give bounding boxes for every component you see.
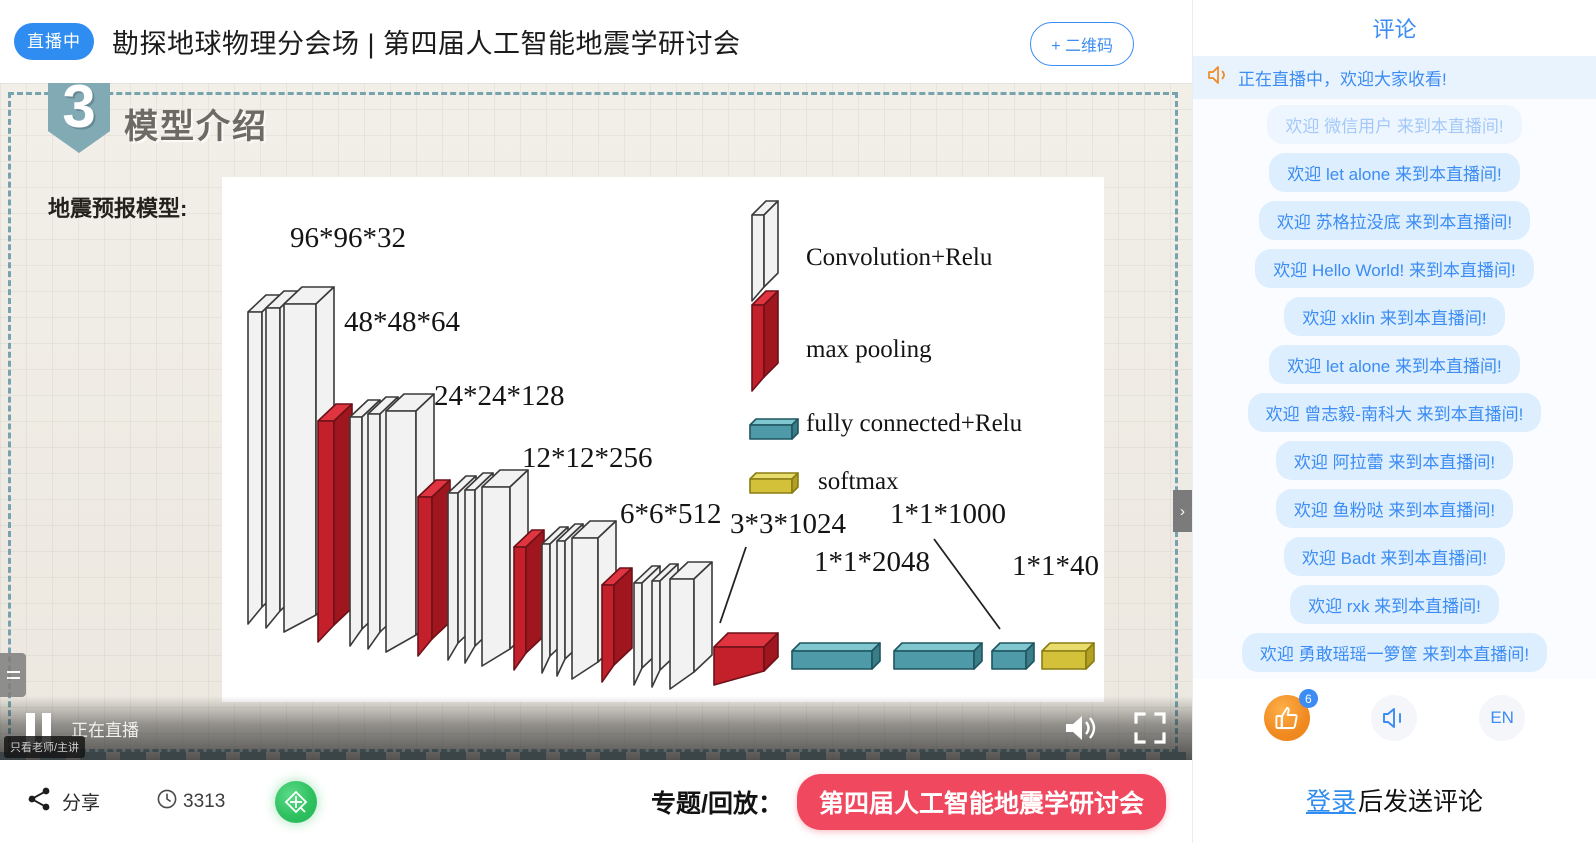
login-suffix: 后发送评论 xyxy=(1358,782,1483,818)
list-item: 欢迎 Badt 来到本直播间! xyxy=(1284,537,1505,576)
live-stream-page: 直播中 勘探地球物理分会场 | 第四届人工智能地震学研讨会 + 二维码 3 模型… xyxy=(0,0,1596,843)
comment-actions-bar: 6 EN xyxy=(1193,679,1596,757)
qrcode-button-label: + 二维码 xyxy=(1051,32,1113,56)
cnn-architecture-figure: 96*96*32 xyxy=(222,177,1104,702)
page-header: 直播中 勘探地球物理分会场 | 第四届人工智能地震学研讨会 + 二维码 xyxy=(0,0,1192,83)
video-column: 直播中 勘探地球物理分会场 | 第四届人工智能地震学研讨会 + 二维码 3 模型… xyxy=(0,0,1192,843)
slide-title: 模型介绍 xyxy=(124,99,268,148)
list-item: 欢迎 曾志毅-南科大 来到本直播间! xyxy=(1248,393,1542,432)
language-button[interactable]: EN xyxy=(1479,695,1525,741)
live-status-badge: 直播中 xyxy=(14,23,94,60)
list-item: 欢迎 xklin 来到本直播间! xyxy=(1284,297,1504,336)
language-label: EN xyxy=(1490,708,1514,728)
svg-text:3*3*1024: 3*3*1024 xyxy=(730,508,847,540)
player-control-bar: 正在直播 xyxy=(0,696,1192,760)
svg-text:12*12*256: 12*12*256 xyxy=(522,442,653,474)
page-footer: 分享 3313 专题/ xyxy=(0,760,1192,843)
page-title: 勘探地球物理分会场 | 第四届人工智能地震学研讨会 xyxy=(112,22,741,61)
list-item: 欢迎 鱼粉哒 来到本直播间! xyxy=(1276,489,1513,528)
player-tooltip: 只看老师/主讲 xyxy=(4,736,85,758)
slide-subtitle: 地震预报模型: xyxy=(48,191,187,223)
comments-list[interactable]: 欢迎 微信用户 来到本直播间! 欢迎 let alone 来到本直播间! 欢迎 … xyxy=(1193,99,1596,679)
view-count: 3313 xyxy=(156,788,225,816)
svg-text:24*24*128: 24*24*128 xyxy=(434,380,565,412)
comments-title: 评论 xyxy=(1193,0,1596,56)
announcement-text: 正在直播中，欢迎大家收看! xyxy=(1238,65,1447,90)
handle-line xyxy=(7,677,20,679)
video-stage[interactable]: 3 模型介绍 地震预报模型: xyxy=(0,83,1192,760)
share-label: 分享 xyxy=(62,788,100,815)
svg-text:softmax: softmax xyxy=(818,468,899,495)
share-button[interactable]: 分享 xyxy=(26,786,100,817)
list-item: 欢迎 苏格拉没底 来到本直播间! xyxy=(1259,201,1530,240)
share-icon xyxy=(26,786,52,817)
chevron-right-icon[interactable]: › xyxy=(1173,490,1192,532)
list-item: 欢迎 微信用户 来到本直播间! xyxy=(1267,105,1521,144)
login-link[interactable]: 登录 xyxy=(1306,782,1356,818)
compass-badge-icon[interactable] xyxy=(275,781,317,823)
list-item: 欢迎 阿拉蕾 来到本直播间! xyxy=(1276,441,1513,480)
list-item: 欢迎 let alone 来到本直播间! xyxy=(1269,153,1519,192)
svg-text:6*6*512: 6*6*512 xyxy=(620,498,722,530)
topic-pill-button[interactable]: 第四届人工智能地震学研讨会 xyxy=(797,774,1166,830)
like-button[interactable]: 6 xyxy=(1264,695,1310,741)
svg-text:96*96*32: 96*96*32 xyxy=(290,222,406,254)
svg-text:1*1*40: 1*1*40 xyxy=(1012,550,1099,582)
svg-text:1*1*2048: 1*1*2048 xyxy=(814,546,930,578)
list-item: 欢迎 勇敢瑶瑶一箩筐 来到本直播间! xyxy=(1242,633,1547,672)
views-icon xyxy=(156,788,178,816)
views-value: 3313 xyxy=(183,791,225,813)
svg-text:1*1*1000: 1*1*1000 xyxy=(890,498,1006,530)
svg-text:48*48*64: 48*48*64 xyxy=(344,306,461,338)
fullscreen-icon[interactable] xyxy=(1134,712,1166,744)
qrcode-button[interactable]: + 二维码 xyxy=(1030,22,1134,66)
list-item: 欢迎 rxk 来到本直播间! xyxy=(1290,585,1499,624)
presentation-slide: 3 模型介绍 地震预报模型: xyxy=(0,83,1192,760)
handle-line xyxy=(7,671,20,673)
announcement-banner: 正在直播中，欢迎大家收看! xyxy=(1193,56,1596,99)
speaker-icon xyxy=(1207,65,1229,90)
topic-area: 专题/回放： 第四届人工智能地震学研讨会 xyxy=(651,774,1166,830)
progress-bar[interactable] xyxy=(0,752,1192,760)
volume-icon[interactable] xyxy=(1064,713,1098,743)
list-item: 欢迎 Hello World! 来到本直播间! xyxy=(1255,249,1533,288)
like-count-badge: 6 xyxy=(1299,689,1318,708)
topic-label: 专题/回放： xyxy=(651,784,783,820)
comments-panel: 评论 正在直播中，欢迎大家收看! 欢迎 微信用户 来到本直播间! 欢迎 let … xyxy=(1192,0,1596,843)
login-prompt: 登录 后发送评论 xyxy=(1193,757,1596,843)
svg-text:fully connected+Relu: fully connected+Relu xyxy=(806,410,1023,437)
svg-text:Convolution+Relu: Convolution+Relu xyxy=(806,244,993,271)
list-item: 欢迎 let alone 来到本直播间! xyxy=(1269,345,1519,384)
sound-toggle-button[interactable] xyxy=(1371,695,1417,741)
slide-menu-handle[interactable] xyxy=(0,653,26,697)
svg-text:max pooling: max pooling xyxy=(806,336,932,363)
